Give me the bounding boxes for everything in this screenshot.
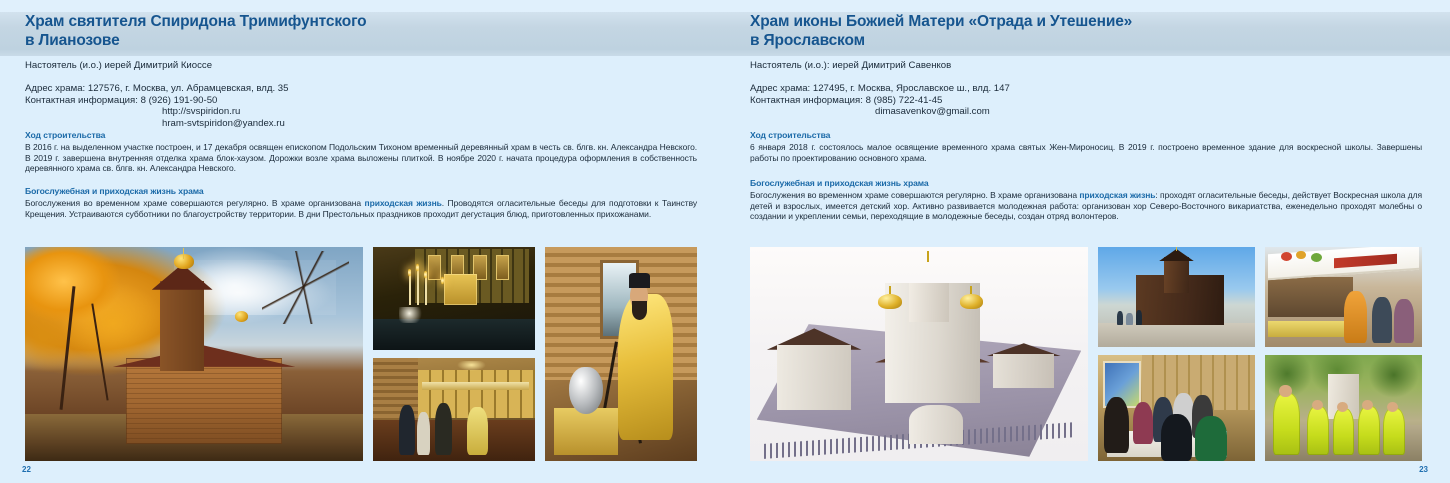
photo-youth-meeting [1098, 355, 1255, 461]
right-section-parish-life: Богослужебная и приходская жизнь храма Б… [750, 178, 1422, 222]
left-section-parish-life-heading: Богослужебная и приходская жизнь храма [25, 186, 697, 197]
right-section-construction-heading: Ход строительства [750, 130, 1422, 141]
right-section-parish-life-heading: Богослужебная и приходская жизнь храма [750, 178, 1422, 189]
right-section-parish-life-body: Богослужения во временном храме совершаю… [750, 190, 1422, 222]
left-contact-line: Контактная информация: 8 (926) 191-90-50 [25, 95, 685, 107]
left-page-title: Храм святителя Спиридона Тримифунтского … [25, 13, 685, 50]
left-parish-body-before: Богослужения во временном храме совершаю… [25, 198, 365, 208]
right-rector-line: Настоятель (и.о.): иерей Димитрий Савенк… [750, 60, 1410, 72]
photo-volunteers-group [1265, 355, 1422, 461]
left-website-link[interactable]: http://svspiridon.ru [25, 106, 685, 118]
right-parish-highlight: приходская жизнь [1079, 190, 1155, 200]
right-address-line: Адрес храма: 127495, г. Москва, Ярославс… [750, 83, 1410, 95]
photo-cathedral-3d-render [750, 247, 1088, 461]
photo-temporary-wooden-church [1098, 247, 1255, 347]
right-page-number: 23 [1419, 465, 1428, 474]
right-section-construction: Ход строительства 6 января 2018 г. состо… [750, 130, 1422, 163]
left-address-line: Адрес храма: 127576, г. Москва, ул. Абра… [25, 83, 685, 95]
left-page-number: 22 [22, 465, 31, 474]
photo-parish-fair-yarmarka [1265, 247, 1422, 347]
magazine-spread: Храм святителя Спиридона Тримифунтского … [0, 0, 1450, 483]
right-page-title: Храм иконы Божией Матери «Отрада и Утеше… [750, 13, 1410, 50]
left-section-parish-life-body: Богослужения во временном храме совершаю… [25, 198, 697, 219]
left-section-parish-life: Богослужебная и приходская жизнь храма Б… [25, 186, 697, 219]
page-right: Храм иконы Божией Матери «Отрада и Утеше… [725, 0, 1450, 483]
left-contact-block: Настоятель (и.о.) иерей Димитрий Киоссе … [25, 60, 685, 129]
left-parish-highlight: приходская жизнь [365, 198, 442, 208]
right-section-construction-body: 6 января 2018 г. состоялось малое освяще… [750, 142, 1422, 163]
left-section-construction: Ход строительства В 2016 г. на выделенно… [25, 130, 697, 174]
right-contact-line: Контактная информация: 8 (985) 722-41-45 [750, 95, 1410, 107]
photo-service-procession [373, 358, 535, 461]
page-left: Храм святителя Спиридона Тримифунтского … [0, 0, 725, 483]
left-section-construction-heading: Ход строительства [25, 130, 697, 141]
left-email-link[interactable]: hram-svtspiridon@yandex.ru [25, 118, 685, 130]
photo-priest-blessing-water [545, 247, 697, 461]
photo-church-interior-candles [373, 247, 535, 350]
right-email-link[interactable]: dimasavenkov@gmail.com [750, 106, 1410, 118]
left-section-construction-body: В 2016 г. на выделенном участке построен… [25, 142, 697, 174]
right-parish-body-before: Богослужения во временном храме совершаю… [750, 190, 1079, 200]
left-photo-grid [25, 247, 697, 461]
left-rector-line: Настоятель (и.о.) иерей Димитрий Киоссе [25, 60, 685, 72]
photo-wooden-church-autumn [25, 247, 363, 461]
right-contact-block: Настоятель (и.о.): иерей Димитрий Савенк… [750, 60, 1410, 118]
right-photo-grid [750, 247, 1422, 461]
